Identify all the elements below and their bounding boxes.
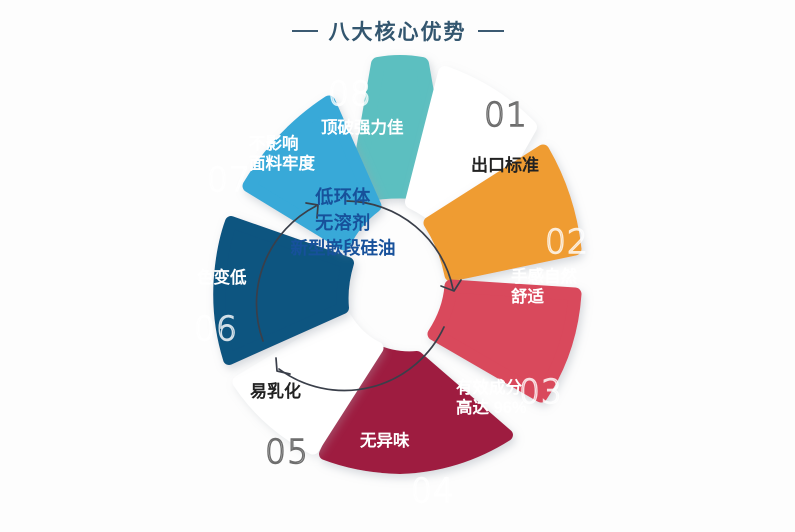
wheel-svg [145, 46, 655, 532]
radial-wheel-diagram: 08 顶破强力佳 01 出口标准 02 手感自然 舒适 03 有效成分 高达 9… [145, 46, 655, 532]
title-dash-left-icon [292, 30, 318, 32]
page-title: 八大核心优势 [0, 16, 795, 46]
title-dash-right-icon [478, 30, 504, 32]
infographic-canvas: 八大核心优势 [0, 0, 795, 532]
page-title-text: 八大核心优势 [329, 16, 467, 46]
